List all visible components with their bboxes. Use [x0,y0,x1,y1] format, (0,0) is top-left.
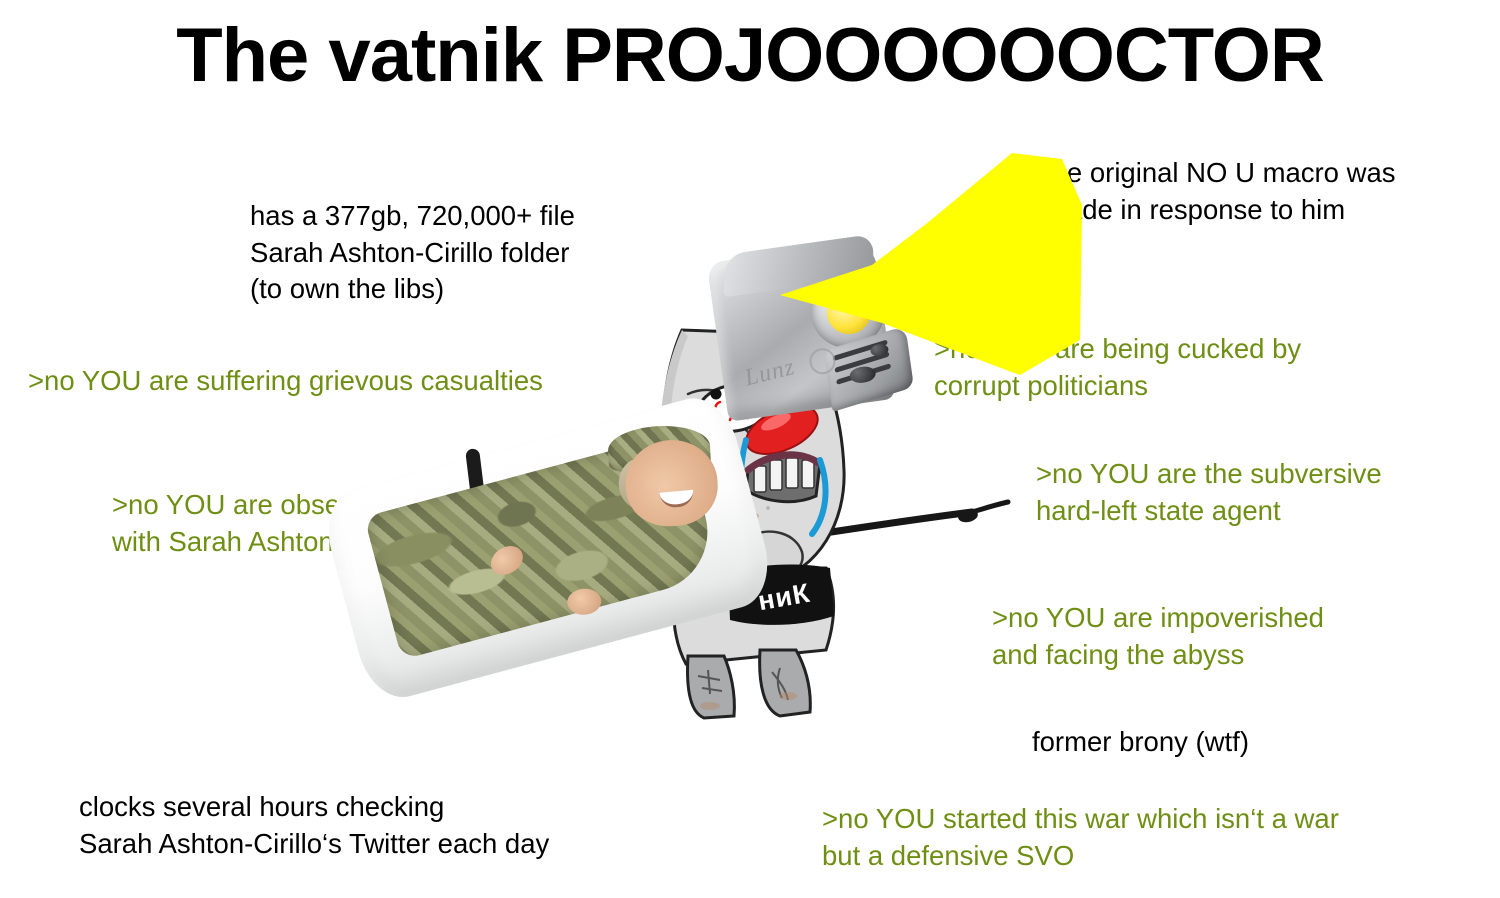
label-clocks-twitter-hours: clocks several hours checking Sarah Asht… [79,789,549,862]
label-sarah-folder: has a 377gb, 720,000+ file Sarah Ashton-… [250,198,575,308]
page-title: The vatnik PROJOOOOOOCTOR [0,16,1500,96]
label-subversive-state-agent: >no YOU are the subversive hard-left sta… [1036,456,1382,529]
label-impoverished-abyss: >no YOU are impoverished and facing the … [992,600,1324,673]
label-grievous-casualties: >no YOU are suffering grievous casualtie… [28,363,543,400]
meme-canvas: The vatnik PROJOOOOOOCTOR Lunz [0,0,1500,898]
label-former-brony: former brony (wtf) [1032,724,1249,761]
label-defensive-svo: >no YOU started this war which isn‘t a w… [822,801,1339,874]
